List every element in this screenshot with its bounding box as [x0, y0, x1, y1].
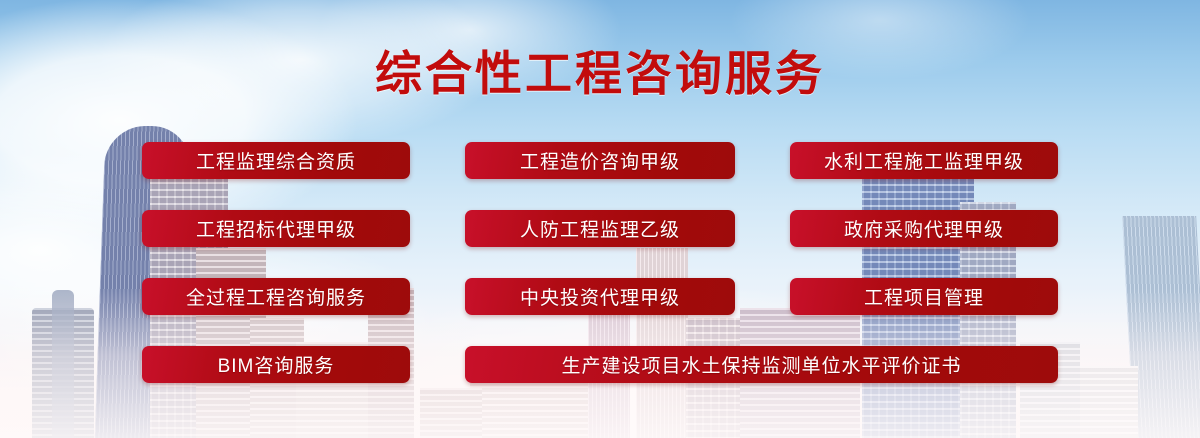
qualification-tag[interactable]: 中央投资代理甲级 — [465, 278, 735, 315]
tag-row-3: 全过程工程咨询服务 中央投资代理甲级 工程项目管理 — [142, 278, 1058, 315]
qualification-tag[interactable]: 工程项目管理 — [790, 278, 1058, 315]
tag-row-1: 工程监理综合资质 工程造价咨询甲级 水利工程施工监理甲级 — [142, 142, 1058, 179]
qualification-tag-wide[interactable]: 生产建设项目水土保持监测单位水平评价证书 — [465, 346, 1058, 383]
tag-row-4: BIM咨询服务 生产建设项目水土保持监测单位水平评价证书 — [142, 346, 1058, 383]
qualification-tag[interactable]: 水利工程施工监理甲级 — [790, 142, 1058, 179]
qualification-tag[interactable]: 工程招标代理甲级 — [142, 210, 410, 247]
page-title: 综合性工程咨询服务 — [0, 48, 1200, 100]
qualification-tag[interactable]: 工程监理综合资质 — [142, 142, 410, 179]
qualification-tag[interactable]: 政府采购代理甲级 — [790, 210, 1058, 247]
qualification-tag[interactable]: 工程造价咨询甲级 — [465, 142, 735, 179]
qualification-tag[interactable]: BIM咨询服务 — [142, 346, 410, 383]
qualification-tag-grid: 工程监理综合资质 工程造价咨询甲级 水利工程施工监理甲级 工程招标代理甲级 人防… — [142, 142, 1058, 383]
qualification-tag[interactable]: 人防工程监理乙级 — [465, 210, 735, 247]
qualification-tag[interactable]: 全过程工程咨询服务 — [142, 278, 410, 315]
qualifications-banner: 综合性工程咨询服务 工程监理综合资质 工程造价咨询甲级 水利工程施工监理甲级 工… — [0, 0, 1200, 438]
tag-row-2: 工程招标代理甲级 人防工程监理乙级 政府采购代理甲级 — [142, 210, 1058, 247]
